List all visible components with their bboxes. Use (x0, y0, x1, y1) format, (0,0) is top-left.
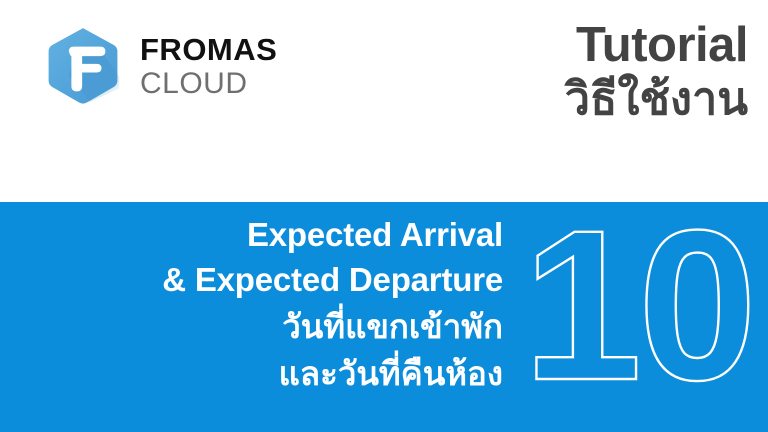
topic-banner: 10 Expected Arrival & Expected Departure… (0, 202, 768, 432)
topic-title-thai-line-1: วันที่แขกเข้าพัก (23, 304, 503, 351)
tutorial-title-thai: วิธีใช้งาน (565, 72, 748, 127)
brand-wordmark: FROMAS CLOUD (140, 33, 277, 100)
tutorial-title-card: FROMAS CLOUD Tutorial วิธีใช้งาน 10 Expe… (0, 0, 768, 432)
episode-number-outline: 10 (516, 211, 760, 411)
brand-lockup: FROMAS CLOUD (40, 23, 277, 109)
card-header: FROMAS CLOUD Tutorial วิธีใช้งาน (0, 0, 768, 202)
header-title-group: Tutorial วิธีใช้งาน (565, 18, 748, 127)
topic-title-thai-line-2: และวันที่คืนห้อง (23, 351, 503, 398)
fromas-hexagon-f-logo-icon (40, 23, 126, 109)
brand-subtitle: CLOUD (140, 67, 277, 101)
episode-number-text: 10 (523, 211, 753, 411)
tutorial-title-english: Tutorial (565, 18, 748, 74)
topic-title-english-line-1: Expected Arrival (23, 213, 503, 258)
topic-title-group: Expected Arrival & Expected Departure วั… (23, 213, 503, 398)
brand-name: FROMAS (140, 33, 277, 66)
topic-title-english-line-2: & Expected Departure (23, 258, 503, 303)
